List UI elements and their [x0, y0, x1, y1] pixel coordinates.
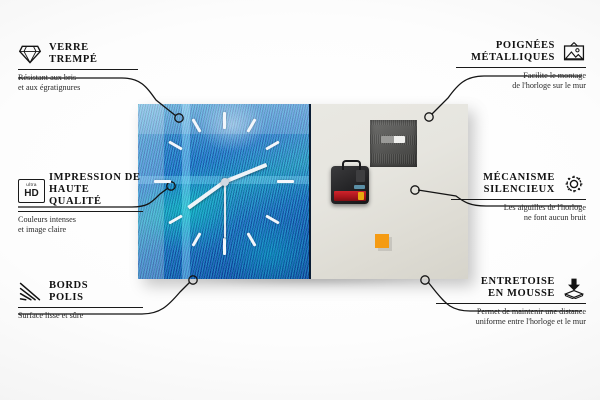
callout-header: MÉCANISME SILENCIEUX: [451, 172, 586, 196]
clock-tick: [223, 112, 226, 129]
callout-subtitle: Couleurs intenses et image claire: [18, 215, 143, 235]
callout-subtitle: Facilite le montage de l'horloge sur le …: [456, 71, 586, 91]
clock-tick: [168, 214, 182, 224]
callout-impression-haute-qualite: ultra HD IMPRESSION DE HAUTE QUALITÉ Cou…: [18, 172, 143, 235]
battery-terminal: [358, 192, 364, 200]
polished-edge-icon: [18, 281, 42, 303]
callout-title: BORDS POLIS: [49, 280, 88, 304]
callout-divider: [451, 199, 586, 200]
callout-header: VERRE TREMPÉ: [18, 42, 138, 66]
product-image: [138, 104, 468, 279]
clock-tick: [265, 140, 279, 150]
callout-title: ENTRETOISE EN MOUSSE: [481, 276, 555, 300]
callout-entretoise-en-mousse: ENTRETOISE EN MOUSSE Permet de maintenir…: [436, 276, 586, 327]
gear-icon: [562, 173, 586, 195]
callout-subtitle: Résistant aux bris et aux égratignures: [18, 73, 138, 93]
mechanism-detail: [354, 185, 365, 189]
clock-mechanism: [331, 166, 369, 204]
mechanism-hook: [342, 160, 361, 170]
glass-clock-face: [138, 104, 311, 279]
infographic-canvas: VERRE TREMPÉ Résistant aux bris et aux é…: [0, 0, 600, 400]
callout-verre-trempe: VERRE TREMPÉ Résistant aux bris et aux é…: [18, 42, 138, 93]
clock-tick: [246, 118, 256, 132]
callout-divider: [456, 67, 586, 68]
callout-divider: [18, 211, 143, 212]
clock-tick: [154, 180, 171, 183]
hd-label: HD: [24, 189, 38, 199]
clock-tick: [168, 140, 182, 150]
foam-spacer: [375, 234, 389, 248]
callout-subtitle: Surface lisse et sûre: [18, 311, 143, 321]
clock-tick: [223, 238, 226, 255]
metal-hanger-plate: [370, 120, 417, 167]
clock-tick: [265, 214, 279, 224]
callout-header: ultra HD IMPRESSION DE HAUTE QUALITÉ: [18, 172, 143, 208]
mechanism-detail: [356, 170, 365, 182]
press-pad-icon: [562, 277, 586, 299]
callout-subtitle: Permet de maintenir une distance uniform…: [436, 307, 586, 327]
clock-tick: [191, 232, 201, 246]
diamond-icon: [18, 43, 42, 65]
clock-center-cap: [221, 178, 229, 186]
callout-subtitle: Les aiguilles de l'horloge ne font aucun…: [451, 203, 586, 223]
clock-minute-hand: [223, 163, 267, 184]
callout-header: POIGNÉES MÉTALLIQUES: [456, 40, 586, 64]
callout-title: VERRE TREMPÉ: [49, 42, 98, 66]
callout-title: IMPRESSION DE HAUTE QUALITÉ: [49, 172, 143, 208]
clock-back-panel: [311, 104, 468, 279]
callout-divider: [18, 307, 143, 308]
hanger-slot: [381, 136, 405, 143]
clock-tick: [191, 118, 201, 132]
callout-title: MÉCANISME SILENCIEUX: [483, 172, 555, 196]
callout-poignees-metalliques: POIGNÉES MÉTALLIQUES Facilite le montage…: [456, 40, 586, 91]
callout-header: ENTRETOISE EN MOUSSE: [436, 276, 586, 300]
clock-tick: [277, 180, 294, 183]
callout-title: POIGNÉES MÉTALLIQUES: [471, 40, 555, 64]
hanging-frame-icon: [562, 41, 586, 63]
clock-second-hand: [224, 182, 226, 238]
callout-divider: [436, 303, 586, 304]
battery: [334, 191, 366, 201]
callout-divider: [18, 69, 138, 70]
clock-tick: [246, 232, 256, 246]
ultra-hd-icon: ultra HD: [18, 179, 42, 201]
callout-header: BORDS POLIS: [18, 280, 143, 304]
clock-hour-hand: [187, 180, 225, 209]
callout-mecanisme-silencieux: MÉCANISME SILENCIEUX Les aiguilles de l'…: [451, 172, 586, 223]
callout-bords-polis: BORDS POLIS Surface lisse et sûre: [18, 280, 143, 321]
